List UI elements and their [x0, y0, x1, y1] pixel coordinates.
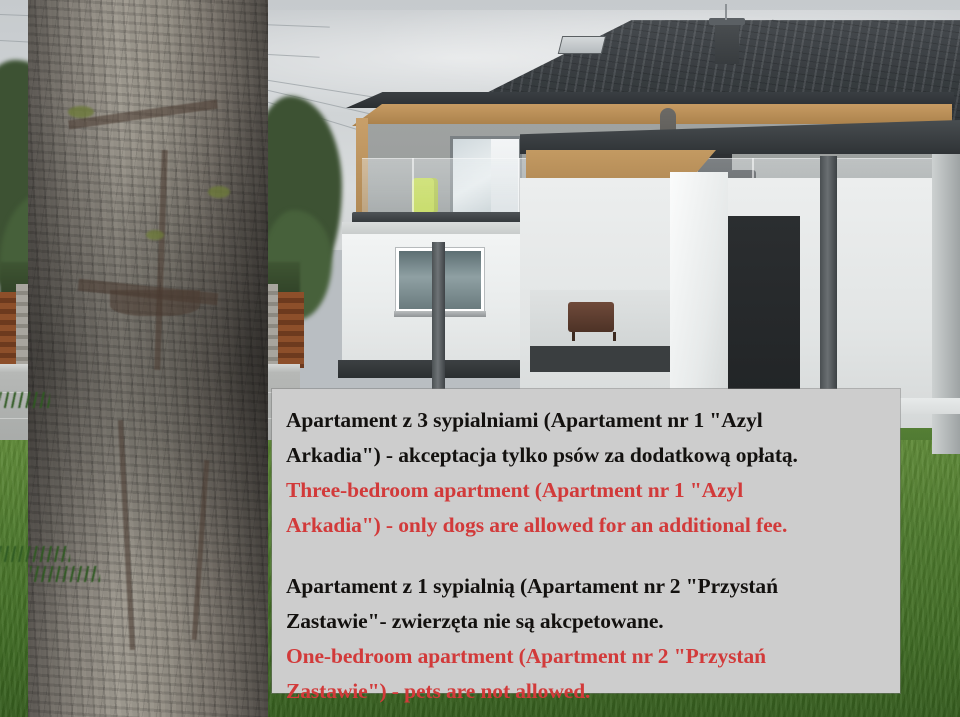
bark-scar: [110, 290, 200, 316]
english-line: Three-bedroom apartment (Apartment nr 1 …: [286, 473, 884, 508]
moss-patch: [146, 230, 164, 240]
chimney: [715, 22, 739, 64]
polish-line: Apartament z 3 sypialniami (Apartament n…: [286, 403, 884, 438]
polish-line: Apartament z 1 sypialnią (Apartament nr …: [286, 569, 884, 604]
wing-roof: [520, 120, 960, 154]
overlay-text-block: Apartament z 3 sypialniami (Apartament n…: [272, 389, 900, 709]
grass-tuft: [0, 546, 70, 562]
wooden-fence: [0, 292, 16, 368]
skylight-window: [558, 36, 606, 54]
english-line: One-bedroom apartment (Apartment nr 2 "P…: [286, 639, 884, 674]
chimney-cap: [709, 18, 745, 25]
bark-texture: [28, 0, 268, 717]
house-right-wing: [520, 120, 960, 420]
tree-trunk: [28, 0, 268, 717]
balustrade-seam: [412, 158, 414, 216]
paragraph-apartment-2: Apartament z 1 sypialnią (Apartament nr …: [286, 569, 884, 709]
polish-line: Arkadia") - akceptacja tylko psów za dod…: [286, 438, 884, 473]
grass-tuft: [30, 566, 100, 582]
paragraph-apartment-1: Apartament z 3 sypialniami (Apartament n…: [286, 403, 884, 543]
porch-shadow: [530, 346, 670, 372]
patio-chair: [568, 302, 614, 332]
english-line: Arkadia") - only dogs are allowed for an…: [286, 508, 884, 543]
info-overlay-panel: Apartament z 3 sypialniami (Apartament n…: [272, 389, 900, 693]
screenshot-root: Apartament z 3 sypialniami (Apartament n…: [0, 0, 960, 717]
antenna-rod: [725, 4, 727, 20]
english-line: Zastawie") - pets are not allowed.: [286, 674, 884, 709]
downpipe: [432, 242, 445, 410]
grass-tuft: [0, 392, 50, 408]
moss-patch: [68, 106, 94, 118]
polish-line: Zastawie"- zwierzęta nie są akcpetowane.: [286, 604, 884, 639]
moss-patch: [208, 186, 230, 198]
